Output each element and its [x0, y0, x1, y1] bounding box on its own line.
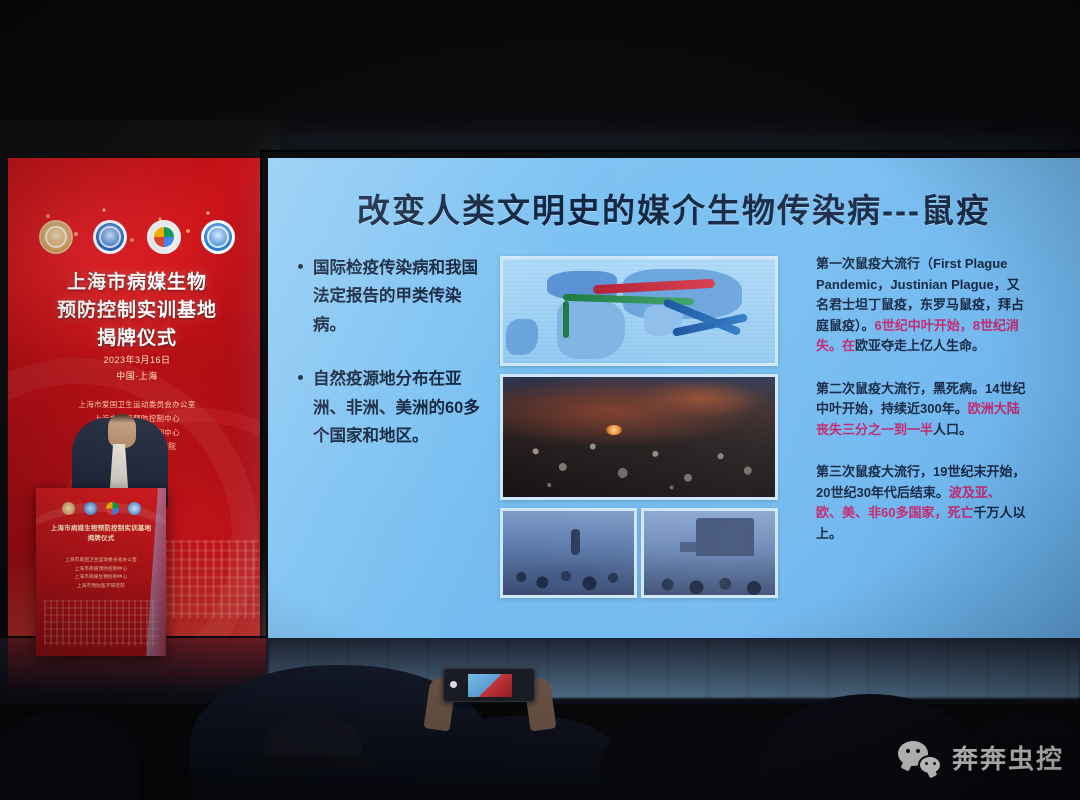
audience-cap: [265, 716, 361, 762]
second-pandemic-tail: 人口。: [933, 422, 972, 437]
podium-organizer-3: 上海市病媒生物防制中心: [36, 573, 166, 582]
podium: 上海市病媒生物预防控制实训基地 揭牌仪式 上海市爱国卫生运动委员会办公室 上海市…: [36, 488, 166, 656]
second-pandemic-paragraph: 第二次鼠疫大流行，黑死病。14世纪中叶开始，持续近300年。欧洲大陆丧失三分之一…: [816, 379, 1026, 441]
black-death-painting-graphic: [503, 377, 775, 497]
audience-member-filming: [425, 660, 555, 730]
second-pandemic-branch-arrow: [563, 301, 569, 338]
podium-title-line-2: 揭牌仪式: [36, 534, 166, 544]
speaker-head: [108, 414, 136, 448]
banner-subtitle: 2023年3月16日 中国·上海: [8, 353, 266, 385]
podium-cdc-logo-icon: [106, 502, 119, 515]
banner-title-line-2: 预防控制实训基地: [8, 298, 266, 325]
slide-image-column: [500, 256, 778, 598]
smartphone: [443, 668, 535, 702]
podium-institute-logo-icon: [128, 502, 141, 515]
health-commission-logo-icon: [93, 220, 127, 254]
conference-hall-scene: 上海市病媒生物 预防控制实训基地 揭牌仪式 2023年3月16日 中国·上海 上…: [0, 0, 1080, 800]
podium-logo-row: [36, 502, 166, 515]
historical-photo-left-graphic: [503, 511, 634, 595]
fire-glow: [606, 425, 622, 435]
banner-logo-row: [8, 220, 266, 254]
podium-title: 上海市病媒生物预防控制实训基地 揭牌仪式: [36, 524, 166, 544]
first-pandemic-paragraph: 第一次鼠疫大流行（First Plague Pandemic，Justinian…: [816, 254, 1026, 357]
world-map-graphic: [503, 259, 775, 363]
camera-lens-icon: [450, 681, 457, 688]
podium-organizers: 上海市爱国卫生运动委员会办公室 上海市疾病预防控制中心 上海市病媒生物防制中心 …: [36, 556, 166, 591]
black-death-painting-image: [500, 374, 778, 500]
institute-logo-icon: [201, 220, 235, 254]
banner-date: 2023年3月16日: [8, 353, 266, 369]
wechat-icon: [898, 741, 942, 775]
phone-screen-preview: [468, 674, 512, 697]
audience-head: [0, 710, 140, 800]
slide-text-column: 第一次鼠疫大流行（First Plague Pandemic，Justinian…: [816, 254, 1026, 566]
podium-title-line-1: 上海市病媒生物预防控制实训基地: [36, 524, 166, 534]
americas-landmass: [506, 319, 539, 354]
plague-spread-world-map-image: [500, 256, 778, 366]
podium-health-commission-logo-icon: [84, 502, 97, 515]
third-pandemic-photo-left-image: [500, 508, 637, 598]
cdc-logo-icon: [147, 220, 181, 254]
third-pandemic-paragraph: 第三次鼠疫大流行，19世纪末开始，20世纪30年代后结束。波及亚、欧、美、非60…: [816, 462, 1026, 544]
slide-bullet-column: 国际检疫传染病和我国法定报告的甲类传染病。 自然疫源地分布在亚洲、非洲、美洲的6…: [296, 254, 491, 476]
slide-bullet-item: 国际检疫传染病和我国法定报告的甲类传染病。: [296, 254, 491, 339]
historical-photo-right-graphic: [644, 511, 775, 595]
watermark-text: 奔奔虫控: [952, 739, 1064, 776]
banner-organizer-1: 上海市爱国卫生运动委员会办公室: [8, 398, 266, 412]
first-pandemic-tail: 欧亚夺走上亿人生命。: [855, 338, 985, 353]
historical-photo-row: [500, 508, 778, 598]
podium-organizer-4: 上海市预防医学研究院: [36, 582, 166, 591]
podium-organizer-1: 上海市爱国卫生运动委员会办公室: [36, 556, 166, 565]
banner-title-line-1: 上海市病媒生物: [8, 270, 266, 297]
third-pandemic-photo-right-image: [641, 508, 778, 598]
banner-title: 上海市病媒生物 预防控制实训基地 揭牌仪式: [8, 270, 266, 353]
slide-bullet-item: 自然疫源地分布在亚洲、非洲、美洲的60多个国家和地区。: [296, 365, 491, 450]
podium-emblem-logo-icon: [62, 502, 75, 515]
slide-title: 改变人类文明史的媒介生物传染病---鼠疫: [268, 184, 1080, 232]
banner-title-line-3: 揭牌仪式: [8, 326, 266, 353]
podium-organizer-2: 上海市疾病预防控制中心: [36, 565, 166, 574]
watermark: 奔奔虫控: [898, 739, 1064, 776]
banner-location: 中国·上海: [8, 369, 266, 385]
emblem-logo-icon: [39, 220, 73, 254]
projection-screen: 改变人类文明史的媒介生物传染病---鼠疫 国际检疫传染病和我国法定报告的甲类传染…: [268, 158, 1080, 638]
